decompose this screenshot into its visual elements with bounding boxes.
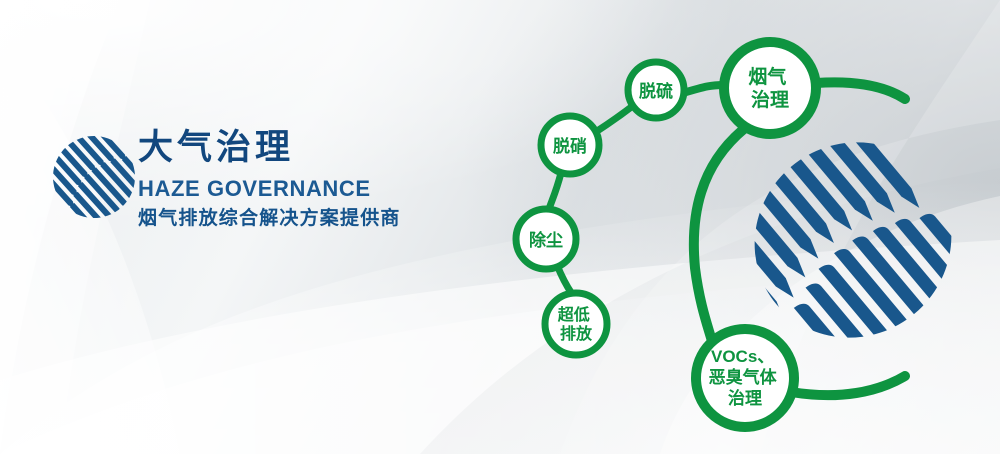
page-title-en: HAZE GOVERNANCE bbox=[138, 178, 401, 200]
node-label-dexiao: 脱硫 bbox=[639, 81, 673, 101]
node-chaodi[interactable] bbox=[545, 293, 607, 355]
connector-dexiao-tuoxiao bbox=[594, 105, 634, 133]
node-label-yanqi-line2: 治理 bbox=[751, 88, 789, 111]
node-label-chaodi-line1: 超低 bbox=[557, 305, 590, 324]
connector-yanqi-vocs-arc bbox=[694, 128, 745, 345]
stub-yanqi-right bbox=[816, 82, 905, 99]
node-label-chaodi-line2: 排放 bbox=[560, 324, 593, 343]
connector-dexiao-yanqi-2 bbox=[683, 85, 724, 93]
stub-vocs-right bbox=[791, 376, 905, 395]
page-title: 大气治理 bbox=[138, 130, 401, 165]
headline-block: 大气治理 HAZE GOVERNANCE 烟气排放综合解决方案提供商 bbox=[138, 130, 401, 228]
node-label-vocs-line2: 恶臭气体 bbox=[709, 367, 778, 387]
node-label-chuchen: 除尘 bbox=[529, 230, 563, 250]
page-subtitle-cn: 烟气排放综合解决方案提供商 bbox=[138, 209, 401, 228]
node-label-vocs-line1: VOCs、 bbox=[711, 347, 774, 366]
node-label-yanqi-line1: 烟气 bbox=[748, 65, 786, 88]
connector-tuoxiao-chuchen bbox=[549, 173, 561, 209]
node-yanqi[interactable] bbox=[724, 42, 816, 134]
haze-governance-banner: 脱硫 脱硝 除尘 超低 排放 烟气 治理 VOCs、 恶臭气体 治理 大气治理 … bbox=[0, 0, 1000, 454]
node-label-vocs-line3: 治理 bbox=[728, 388, 762, 408]
node-label-tuoxiao: 脱硝 bbox=[553, 136, 587, 156]
